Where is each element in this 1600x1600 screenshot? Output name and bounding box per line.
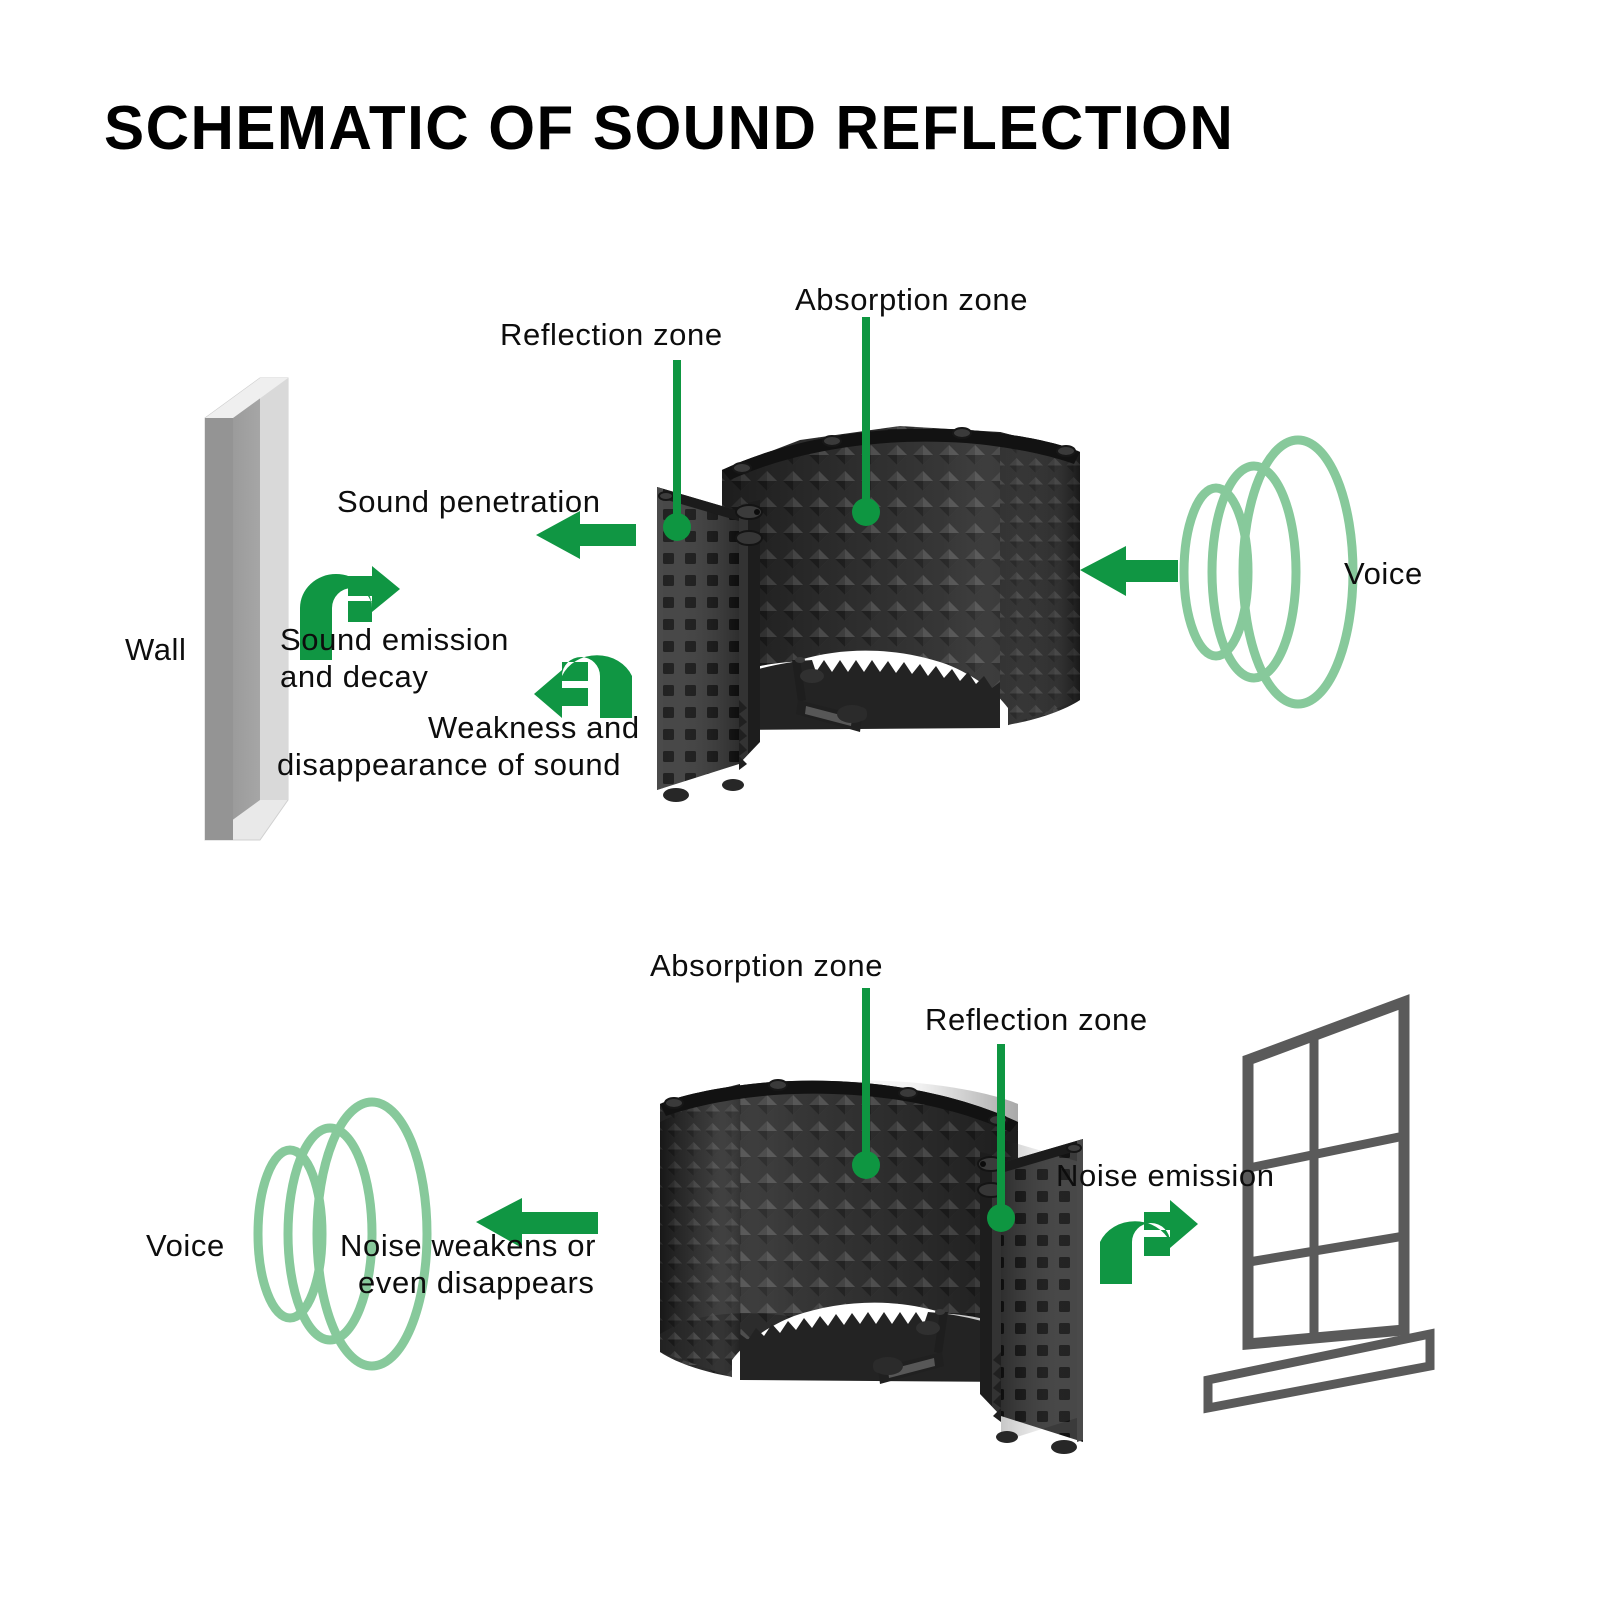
label-reflection-zone-bottom: Reflection zone: [925, 1002, 1148, 1039]
label-weakness-line2: disappearance of sound: [277, 747, 621, 784]
label-weakness-line1: Weakness and: [428, 710, 640, 747]
label-noise-emission: Noise emission: [1056, 1158, 1275, 1195]
label-voice-top: Voice: [1344, 556, 1423, 593]
reflection-zone-dot: [663, 513, 691, 541]
label-sound-penetration: Sound penetration: [337, 484, 601, 521]
label-voice-bottom: Voice: [146, 1228, 225, 1265]
absorption-zone-dot-bottom: [852, 1151, 880, 1179]
label-wall: Wall: [125, 632, 187, 669]
label-reflection-zone-top: Reflection zone: [500, 317, 723, 354]
label-sound-emission-line1: Sound emission: [280, 622, 509, 659]
absorption-zone-dot: [852, 498, 880, 526]
noise-emission-uturn-arrow: [1100, 1200, 1198, 1284]
voice-incoming-arrow-top: [1080, 546, 1178, 596]
wall-slab: [205, 378, 288, 840]
label-noise-weakens-line2: even disappears: [358, 1265, 595, 1302]
schematic-canvas: SCHEMATIC OF SOUND REFLECTION: [0, 0, 1600, 1600]
graphics-layer: [0, 0, 1600, 1600]
label-absorption-zone-top: Absorption zone: [795, 282, 1028, 319]
reflection-zone-dot-bottom: [987, 1204, 1015, 1232]
label-absorption-zone-bottom: Absorption zone: [650, 948, 883, 985]
sound-wave-rings-top: [1184, 440, 1353, 704]
label-noise-weakens-line1: Noise weakens or: [340, 1228, 596, 1265]
label-sound-emission-line2: and decay: [280, 659, 428, 696]
weakness-uturn-arrow: [534, 655, 632, 718]
microphone-isolation-shield-bottom: [660, 1080, 1083, 1454]
